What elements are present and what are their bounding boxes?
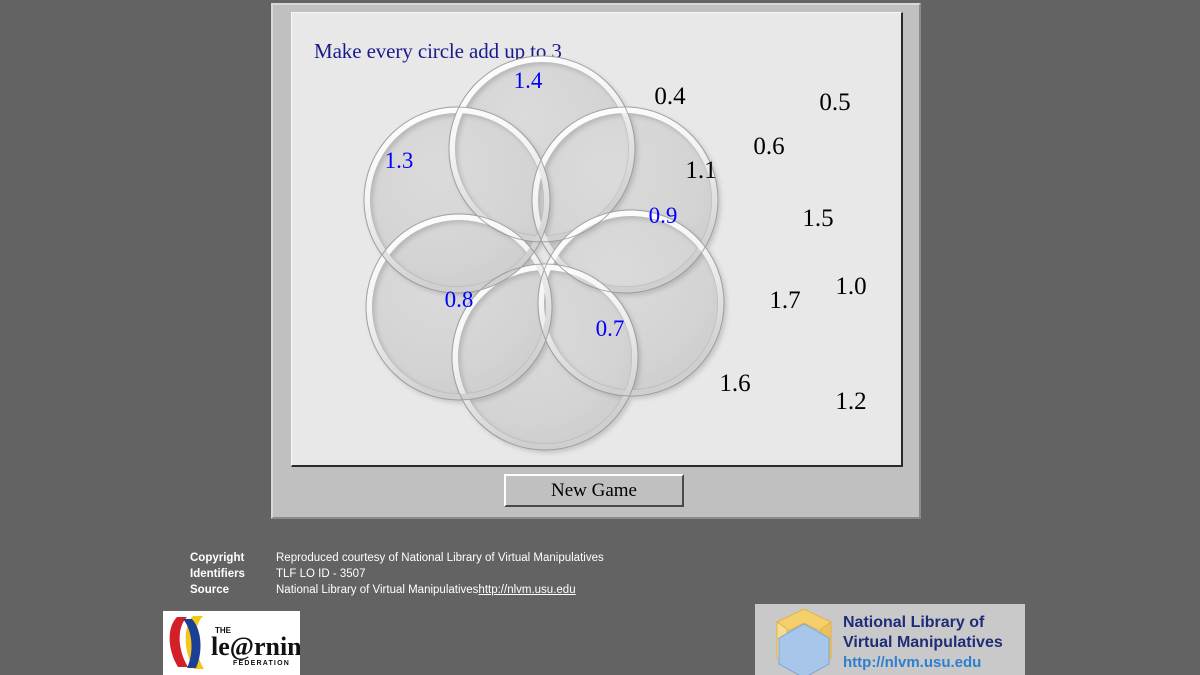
metadata-value-identifiers: TLF LO ID - 3507 xyxy=(276,568,365,580)
metadata-value-source: National Library of Virtual Manipulative… xyxy=(276,584,478,596)
metadata-row-copyright: Copyright Reproduced courtesy of Nationa… xyxy=(190,552,604,568)
metadata-row-identifiers: Identifiers TLF LO ID - 3507 xyxy=(190,568,604,584)
bank-number-0-4[interactable]: 0.4 xyxy=(654,83,685,111)
nlvm-source-link[interactable]: http://nlvm.usu.edu xyxy=(478,584,575,596)
bank-number-0-5[interactable]: 0.5 xyxy=(819,89,850,117)
tlf-ribbon-icon xyxy=(170,616,204,669)
bank-number-1-2[interactable]: 1.2 xyxy=(835,388,866,416)
metadata-value-copyright: Reproduced courtesy of National Library … xyxy=(276,552,604,564)
metadata-label-identifiers: Identifiers xyxy=(190,568,276,580)
bank-number-0-6[interactable]: 0.6 xyxy=(753,133,784,161)
bank-number-1-0[interactable]: 1.0 xyxy=(835,273,866,301)
metadata-block: Copyright Reproduced courtesy of Nationa… xyxy=(190,552,604,600)
nlvm-line-1: National Library of xyxy=(843,613,1003,633)
game-board-panel: Make every circle add up to 3 xyxy=(291,12,903,467)
learning-federation-logo: THE le@rning FEDERATION xyxy=(163,611,300,675)
circle-value-bottom-left[interactable]: 0.8 xyxy=(445,287,474,313)
circle-value-top[interactable]: 1.4 xyxy=(514,68,543,94)
applet-window: Make every circle add up to 3 xyxy=(271,3,921,519)
bank-number-1-7[interactable]: 1.7 xyxy=(769,287,800,315)
circle-group xyxy=(364,56,724,450)
circle-value-left[interactable]: 1.3 xyxy=(385,148,414,174)
circle-value-bottom[interactable]: 0.7 xyxy=(596,316,625,342)
circle-value-bottom-right[interactable]: 0.9 xyxy=(649,203,678,229)
tlf-federation-text: FEDERATION xyxy=(233,660,290,667)
bank-number-1-1[interactable]: 1.1 xyxy=(685,157,716,185)
metadata-label-copyright: Copyright xyxy=(190,552,276,564)
nlvm-logo: National Library of Virtual Manipulative… xyxy=(755,604,1025,675)
circle-flower-diagram xyxy=(292,13,903,467)
new-game-button[interactable]: New Game xyxy=(504,474,684,507)
page-title: Make every circle add up to 3 xyxy=(314,39,562,64)
bank-number-1-5[interactable]: 1.5 xyxy=(802,205,833,233)
tlf-wordmark-text: le@rning xyxy=(211,632,300,661)
metadata-label-source: Source xyxy=(190,584,276,596)
nlvm-line-2: Virtual Manipulatives xyxy=(843,633,1003,653)
nlvm-text-block: National Library of Virtual Manipulative… xyxy=(843,613,1003,672)
bank-number-1-6[interactable]: 1.6 xyxy=(719,370,750,398)
nlvm-url-text[interactable]: http://nlvm.usu.edu xyxy=(843,653,1003,672)
metadata-row-source: Source National Library of Virtual Manip… xyxy=(190,584,604,600)
nlvm-hexagon-icon xyxy=(763,606,845,675)
